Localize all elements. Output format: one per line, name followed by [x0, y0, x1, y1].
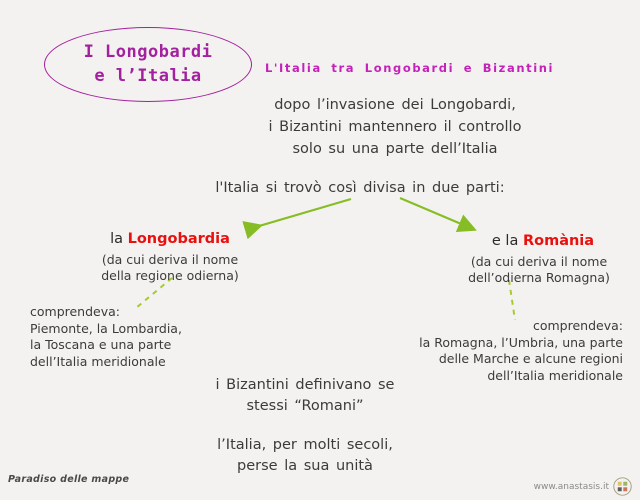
- note-romani: i Bizantini definivano se stessi “Romani…: [180, 375, 430, 417]
- split-statement: l'Italia si trovò così divisa in due par…: [150, 178, 570, 198]
- dashed-connector-right: [509, 280, 515, 320]
- branch-lead-left: la: [110, 231, 128, 247]
- branch-subtitle-romania: (da cui deriva il nome dell’odierna Roma…: [440, 254, 638, 286]
- arrow-to-longobardia: [249, 199, 351, 229]
- anastasis-logo-icon: [613, 477, 632, 496]
- branch-heading-romania: e la Romània: [448, 233, 638, 249]
- slide-canvas: I Longobardi e l’Italia L'Italia tra Lon…: [0, 0, 640, 500]
- watermark-text: www.anastasis.it: [534, 482, 609, 492]
- intro-paragraph: dopo l’invasione dei Longobardi, i Bizan…: [230, 94, 560, 160]
- page-title: I Longobardi e l’Italia: [44, 40, 252, 88]
- arrow-to-romania: [400, 198, 473, 229]
- watermark: www.anastasis.it: [534, 477, 632, 496]
- branch-name-longobardia: Longobardia: [128, 231, 230, 247]
- note-unita: l’Italia, per molti secoli, perse la sua…: [180, 435, 430, 477]
- branch-lead-right: e la: [492, 233, 523, 249]
- branch-name-romania: Romània: [523, 233, 594, 249]
- subtitle-text: L'Italia tra Longobardi e Bizantini: [265, 61, 554, 75]
- branch-detail-longobardia: comprendeva: Piemonte, la Lombardia, la …: [30, 304, 250, 370]
- footer-credit: Paradiso delle mappe: [8, 474, 129, 485]
- branch-heading-longobardia: la Longobardia: [70, 231, 270, 247]
- branch-subtitle-longobardia: (da cui deriva il nome della regione odi…: [70, 252, 270, 284]
